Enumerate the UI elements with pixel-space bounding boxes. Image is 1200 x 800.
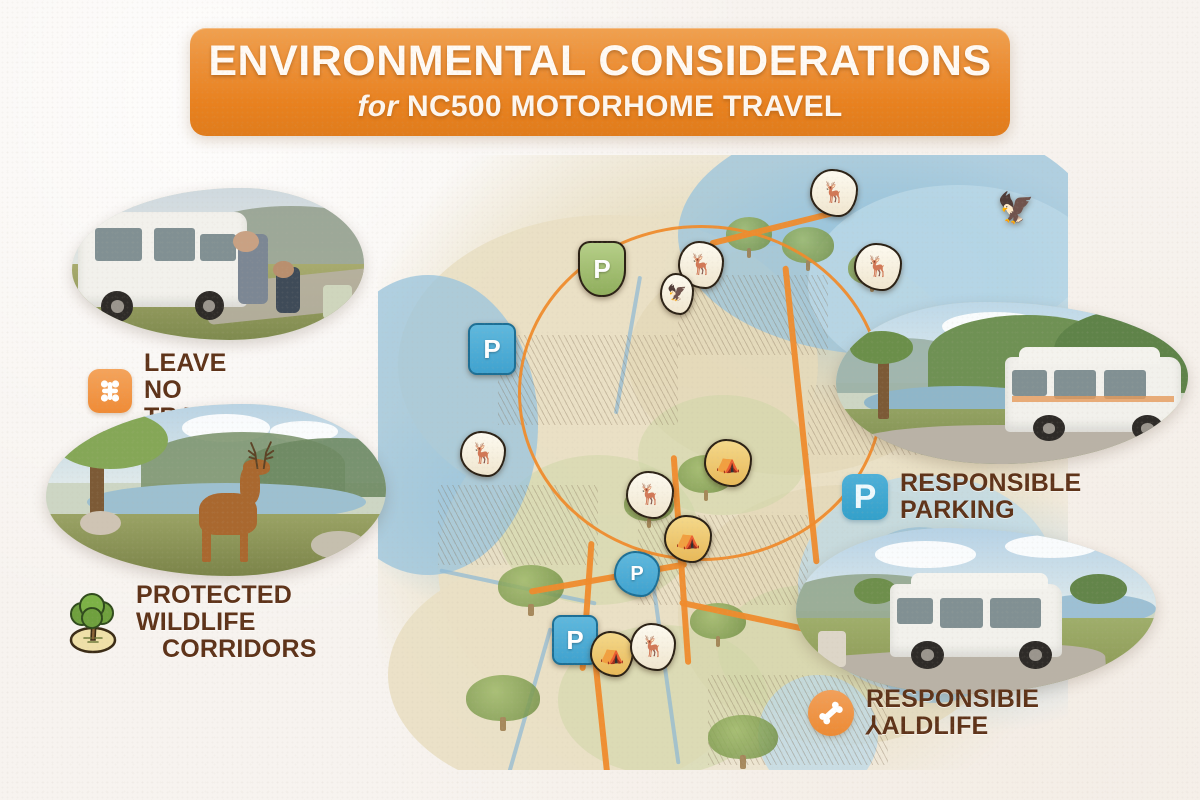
photo-van-window [940,598,983,628]
caption-label: RESPONSIBIE ⅄ALDLIFE [866,686,1039,740]
banner-subtitle-prefix: for [357,90,398,123]
caption-label: RESPONSIBLE PARKING [900,470,1081,524]
photo-cloud [1005,535,1099,558]
photo-van-window [1104,370,1146,399]
caption-responsible-parking: P RESPONSIBLE PARKING [842,470,1081,524]
picnic-icon: ⛺ [600,644,625,664]
photo-signpost [818,631,847,668]
parking-p-icon: P [630,564,643,584]
photo-van-wheel [101,291,133,321]
parking-p-icon: P [593,256,610,282]
photo-litter-bag [323,285,352,318]
photo-responsible-wildlife [796,528,1156,694]
wildlife-icon: 🦌 [638,485,663,505]
caption-line-1: PROTECTED WILDLIFE [136,581,292,636]
map-pin-picnic-south[interactable]: ⛺ [590,633,634,675]
photo-leave-no-trace [72,188,364,340]
parking-p-icon: P [842,474,888,520]
map-pin-picnic-central[interactable]: ⛺ [704,441,752,485]
map-pin-bird-sea[interactable]: 🦅 [990,187,1042,231]
wildlife-icon: 🦌 [641,637,666,657]
photo-van-wheel [911,641,943,669]
map-pin-wildlife-ne2[interactable]: 🦌 [854,245,902,289]
photo-van-wheel [1019,641,1051,669]
photo-child-head [273,261,293,278]
map-pin-wildlife-west[interactable]: 🦌 [460,433,506,475]
banner-subtitle: for NC500 MOTORHOME TRAVEL [357,90,842,124]
photo-van-windshield [1012,370,1047,396]
infographic-canvas: P 🦌 🦅 🦌 🦌 P 🦌 ⛺ 🦌 ⛺ P [0,0,1200,800]
map-pin-parking-north[interactable]: P [578,243,626,295]
parking-p-glyph: P [854,480,877,514]
map-pin-wildlife-central[interactable]: 🦌 [626,473,674,517]
title-banner: ENVIRONMENTAL CONSIDERATIONS for NC500 M… [190,28,1010,136]
photo-van-roof [911,573,1048,590]
map-pin-wildlife-south[interactable]: 🦌 [630,625,676,669]
banner-title: ENVIRONMENTAL CONSIDERATIONS [208,40,991,84]
photo-foliage [850,331,913,363]
tree-badge-icon [62,592,124,654]
map-tree-clump [466,675,540,721]
photo-deer-leg [240,528,249,562]
photo-protected-wildlife [46,404,386,576]
map-pin-parking-west[interactable]: P [468,325,516,373]
photo-deer-leg [202,528,211,562]
photo-rock [311,531,365,559]
photo-van-window [95,228,142,261]
photo-van-window [990,598,1040,628]
banner-subtitle-main: NC500 MOTORHOME TRAVEL [407,90,843,123]
photo-responsible-parking [836,302,1188,464]
caption-responsible-wildlife: RESPONSIBIE ⅄ALDLIFE [808,686,1039,740]
bone-circle-icon [808,690,854,736]
parking-p-icon: P [566,627,583,653]
caption-protected-wildlife-corridors: PROTECTED WILDLIFE CORRIDORS [62,582,317,663]
map-pin-parking-south[interactable]: P [614,553,660,595]
photo-cloud [875,541,976,568]
wildlife-icon: 🦌 [471,444,496,464]
map-pin-wildlife-ne[interactable]: 🦌 [810,171,858,215]
picnic-icon: ⛺ [676,529,701,549]
photo-van-window [1054,370,1096,399]
photo-adult-head [233,231,259,252]
photo-van-windshield [897,598,933,625]
photo-deer-antlers [230,432,291,470]
photo-van-wheel [195,291,224,320]
parking-p-icon: P [483,336,500,362]
photo-van-roof [1019,347,1160,363]
map-pin-bird-north[interactable]: 🦅 [660,275,694,313]
caption-label: PROTECTED WILDLIFE CORRIDORS [136,582,317,663]
wildlife-icon: 🦌 [689,255,714,275]
photo-rock [80,511,121,535]
photo-van-window [154,228,195,261]
caption-line-2: CORRIDORS [136,636,317,663]
wildlife-icon: 🦌 [866,257,891,277]
bird-icon: 🦅 [667,286,687,302]
photo-van-window [200,234,235,261]
map-pin-picnic-east[interactable]: ⛺ [664,517,712,561]
photo-van-wheel [1033,415,1065,441]
bird-icon: 🦅 [997,194,1034,224]
wildlife-icon: 🦌 [822,183,847,203]
photo-foliage [53,411,169,469]
map-tree-clump [708,715,778,759]
picnic-icon: ⛺ [716,453,741,473]
photo-van-stripe [1012,396,1174,402]
